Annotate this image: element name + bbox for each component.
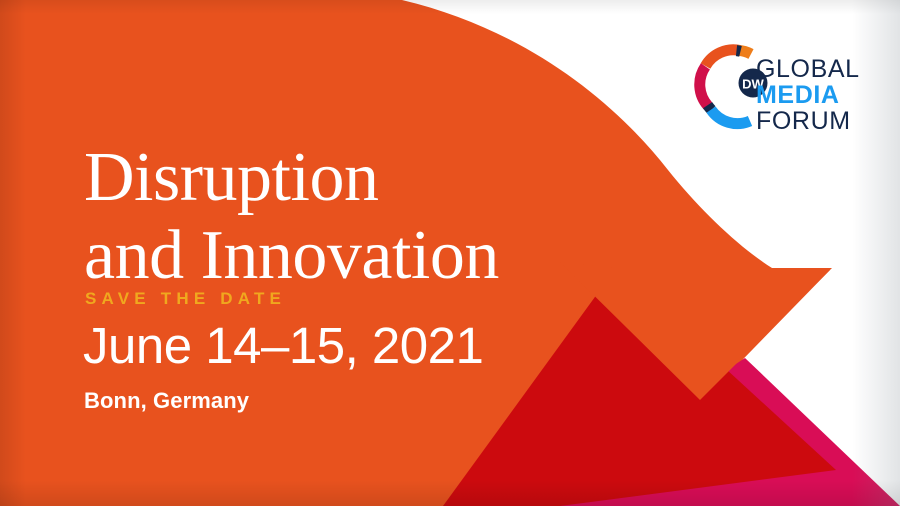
logo-line-forum: FORUM — [756, 108, 860, 134]
save-the-date-label: SAVE THE DATE — [85, 289, 286, 309]
save-the-date-banner: Disruption and Innovation SAVE THE DATE … — [0, 0, 900, 506]
logo-line-media: MEDIA — [756, 82, 860, 108]
event-location: Bonn, Germany — [84, 388, 249, 414]
logo-wordmark: GLOBAL MEDIA FORUM — [756, 56, 860, 134]
dw-global-media-forum-logo[interactable]: DW GLOBAL MEDIA FORUM — [694, 38, 866, 144]
page-title: Disruption and Innovation — [84, 139, 704, 296]
logo-line-global: GLOBAL — [756, 56, 860, 82]
event-date: June 14–15, 2021 — [83, 316, 483, 375]
